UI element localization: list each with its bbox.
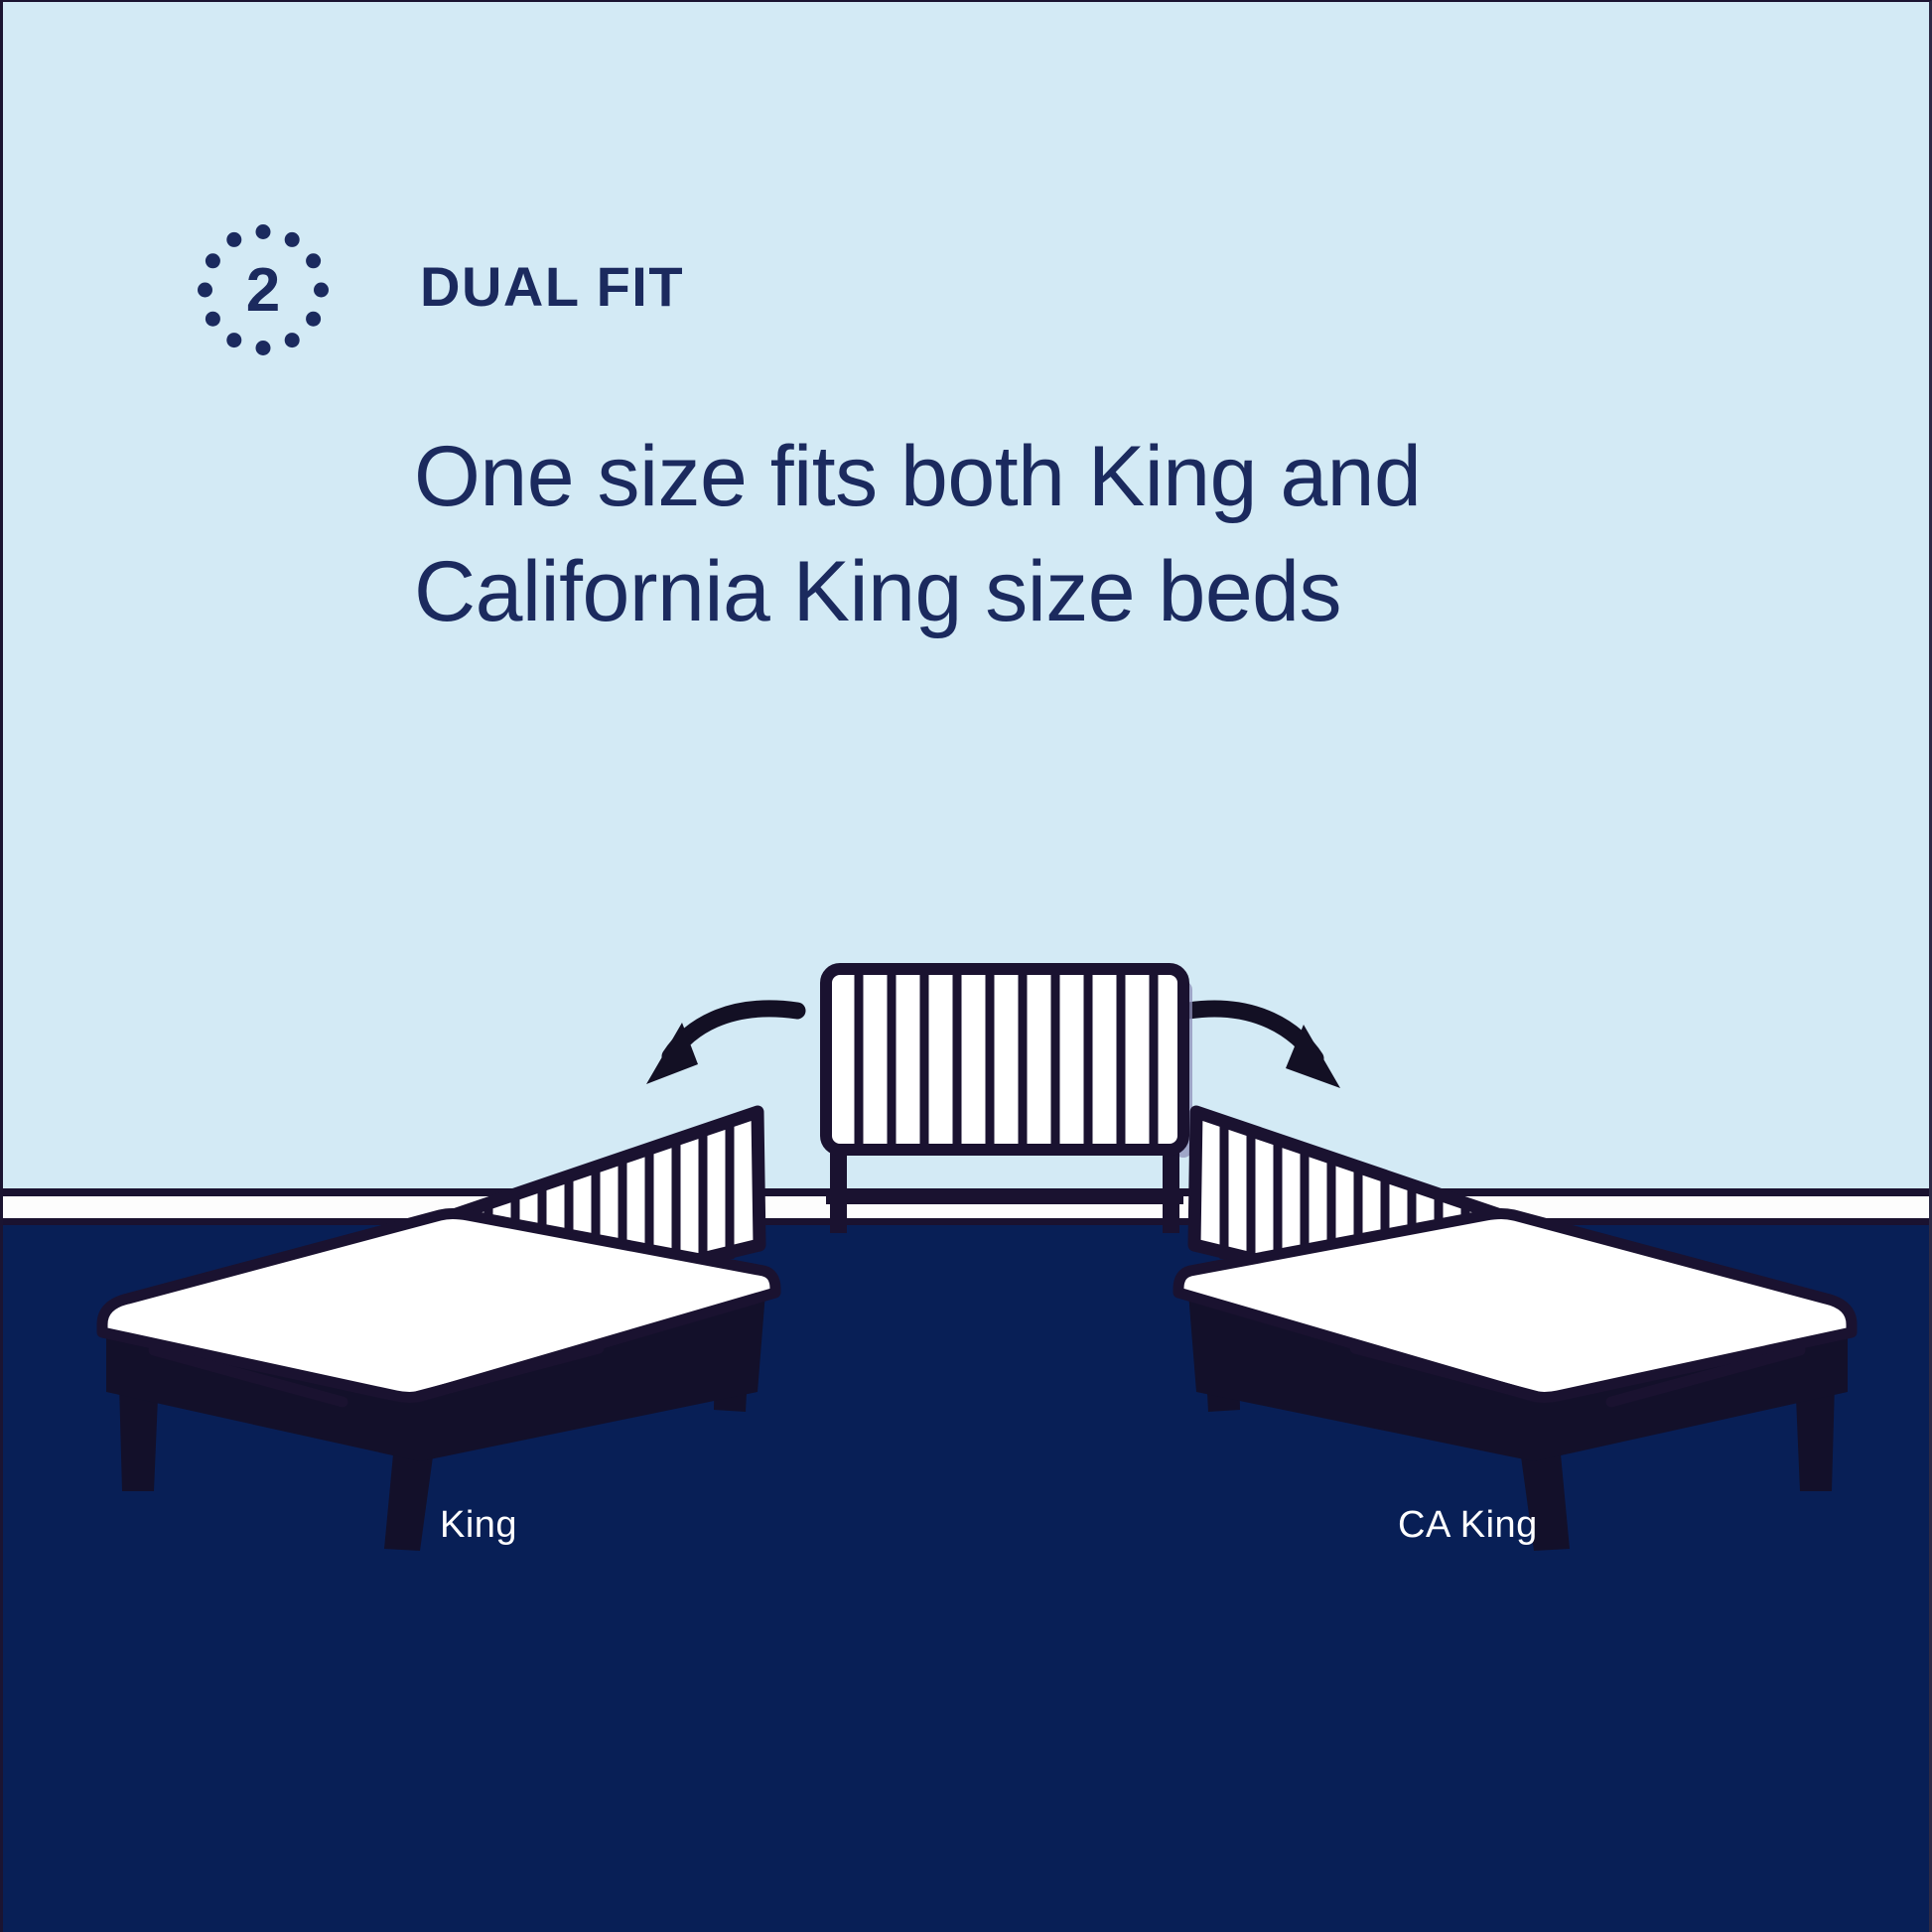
baseboard xyxy=(3,1196,1929,1218)
section-eyebrow: DUAL FIT xyxy=(420,259,684,315)
baseboard-bottom-edge xyxy=(3,1218,1929,1225)
headline-line-1: One size fits both King and xyxy=(414,419,1804,534)
bed-label-king: King xyxy=(440,1504,517,1547)
step-badge: 2 xyxy=(198,224,329,355)
page-title: One size fits both King and California K… xyxy=(414,419,1804,649)
infographic-canvas: 2 DUAL FIT One size fits both King and C… xyxy=(0,0,1932,1932)
bed-label-ca-king: CA King xyxy=(1398,1504,1538,1547)
headline-line-2: California King size beds xyxy=(414,534,1804,649)
step-number: 2 xyxy=(198,224,329,355)
floor-background xyxy=(3,1225,1929,1932)
baseboard-top-edge xyxy=(3,1188,1929,1196)
